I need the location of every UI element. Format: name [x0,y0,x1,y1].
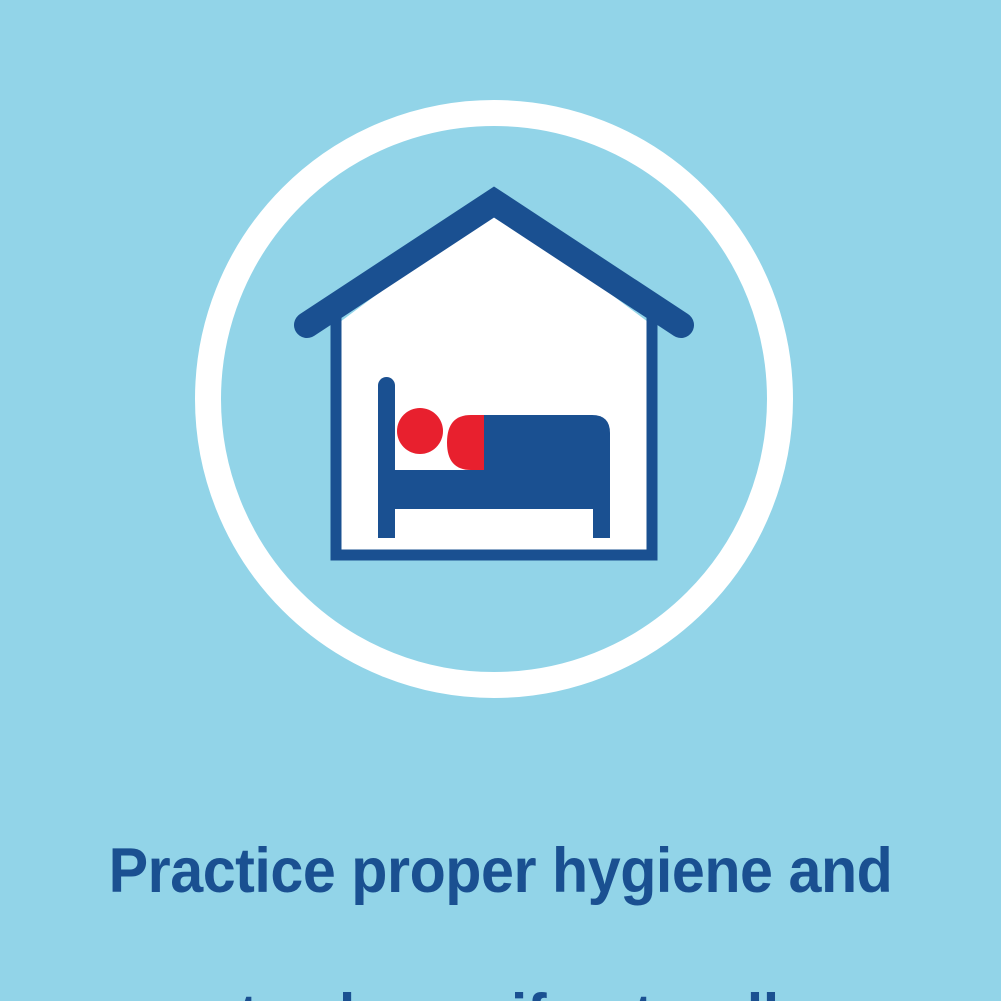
bed-blanket-footboard-icon [484,415,610,509]
poster-canvas: Practice proper hygiene and stay home if… [0,0,1001,1001]
pillow-icon [447,415,484,470]
caption-text: Practice proper hygiene and stay home if… [30,762,971,1001]
bed-left-leg-icon [378,509,395,538]
person-head-icon [397,408,443,454]
bed-right-leg-icon [593,509,610,538]
caption-line-2: stay home if not well. [30,981,971,1001]
stay-home-in-bed-icon [0,0,1001,760]
icon-area [0,0,1001,760]
caption-line-1: Practice proper hygiene and [30,835,971,908]
